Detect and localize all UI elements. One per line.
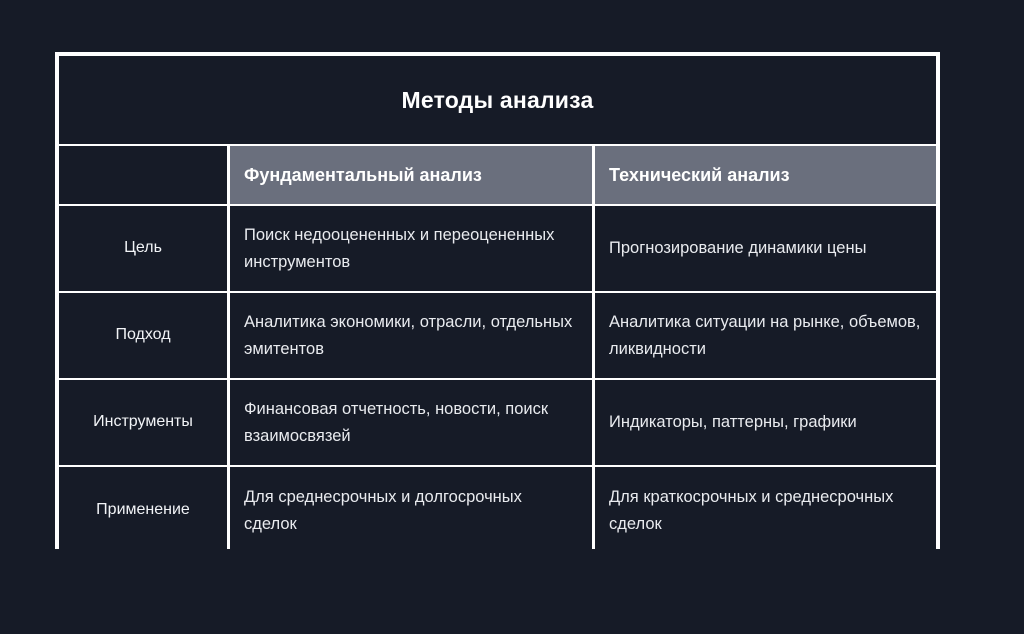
row-cell-technical: Аналитика ситуации на рынке, объемов, ли… [595,293,936,378]
cell-text-fundamental: Поиск недооцененных и переоцененных инст… [244,222,578,275]
table-row: Применение Для среднесрочных и долгосроч… [59,467,936,554]
table-row: Цель Поиск недооцененных и переоцененных… [59,206,936,291]
row-cell-fundamental: Для среднесрочных и долгосрочных сделок [230,467,592,554]
header-label-fundamental: Фундаментальный анализ [244,164,482,187]
row-label: Цель [124,238,162,259]
row-label-cell: Инструменты [59,380,227,465]
table-row: Инструменты Финансовая отчетность, новос… [59,380,936,465]
header-cell-corner [59,146,227,204]
table-header-row: Фундаментальный анализ Технический анали… [59,146,936,204]
cell-text-technical: Индикаторы, паттерны, графики [609,409,857,436]
table-row: Подход Аналитика экономики, отрасли, отд… [59,293,936,378]
row-cell-fundamental: Поиск недооцененных и переоцененных инст… [230,206,592,291]
cell-text-technical: Аналитика ситуации на рынке, объемов, ли… [609,309,922,362]
cell-text-technical: Прогнозирование динамики цены [609,235,866,262]
header-label-technical: Технический анализ [609,164,790,187]
row-label: Применение [96,500,190,521]
cell-text-fundamental: Для среднесрочных и долгосрочных сделок [244,484,578,537]
header-cell-fundamental: Фундаментальный анализ [230,146,592,204]
row-cell-technical: Прогнозирование динамики цены [595,206,936,291]
row-cell-fundamental: Аналитика экономики, отрасли, отдельных … [230,293,592,378]
table-title-row: Методы анализа [59,56,936,144]
row-cell-technical: Индикаторы, паттерны, графики [595,380,936,465]
cell-text-fundamental: Аналитика экономики, отрасли, отдельных … [244,309,578,362]
table-title: Методы анализа [402,87,594,114]
header-cell-technical: Технический анализ [595,146,936,204]
row-label-cell: Применение [59,467,227,554]
row-label-cell: Подход [59,293,227,378]
cell-text-fundamental: Финансовая отчетность, новости, поиск вз… [244,396,578,449]
row-cell-fundamental: Финансовая отчетность, новости, поиск вз… [230,380,592,465]
row-label: Инструменты [93,412,193,433]
row-cell-technical: Для краткосрочных и среднесрочных сделок [595,467,936,554]
row-label: Подход [115,325,170,346]
comparison-table: Методы анализа Фундаментальный анализ Те… [55,52,940,549]
cell-text-technical: Для краткосрочных и среднесрочных сделок [609,484,922,537]
row-label-cell: Цель [59,206,227,291]
